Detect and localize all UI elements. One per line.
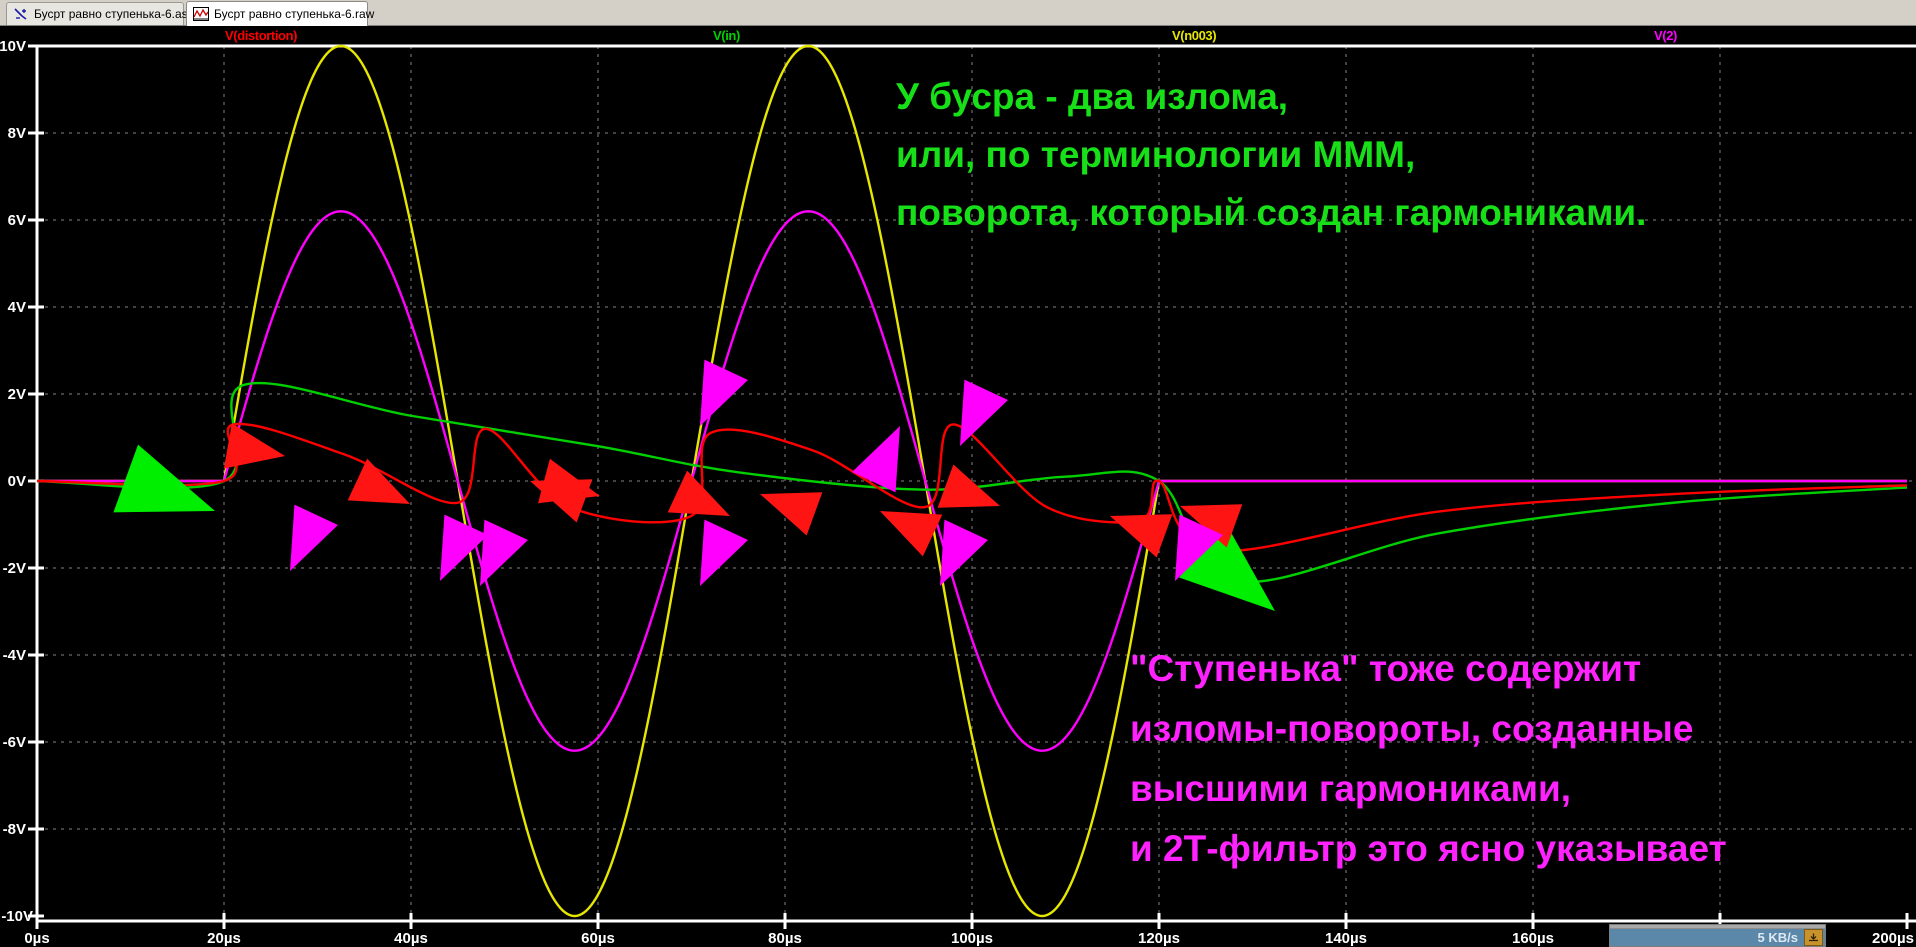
widget-body[interactable]: 5 KB/s <box>1610 929 1825 946</box>
x-tick-label: 120µs <box>1138 930 1180 947</box>
y-tick-label: 6V <box>8 212 26 229</box>
waveform-icon <box>193 7 209 21</box>
x-tick-label: 0µs <box>24 930 49 947</box>
y-tick-label: 0V <box>8 473 26 490</box>
y-tick-label: -4V <box>3 647 26 664</box>
x-tick-label: 80µs <box>768 930 802 947</box>
y-tick-label: -10V <box>1 908 33 925</box>
annotation-magenta-line-1: "Ступенька" тоже содержит <box>1130 648 1641 690</box>
y-tick-label: -2V <box>3 560 26 577</box>
annotation-magenta-line-4: и 2Т-фильтр это ясно указывает <box>1130 828 1727 870</box>
x-tick-label: 60µs <box>581 930 615 947</box>
x-tick-label: 160µs <box>1512 930 1554 947</box>
tab-label: Бусрт равно ступенька-6.asc <box>34 7 194 21</box>
y-tick-label: 2V <box>8 386 26 403</box>
annotation-magenta-line-2: изломы-повороты, созданные <box>1130 708 1693 750</box>
y-tick-label: 4V <box>8 299 26 316</box>
y-tick-label: 8V <box>8 125 26 142</box>
x-tick-label: 100µs <box>951 930 993 947</box>
tab-schematic[interactable]: Бусрт равно ступенька-6.asc <box>6 2 184 25</box>
tab-bar: Бусрт равно ступенька-6.asc Бусрт равно … <box>0 0 1916 26</box>
x-tick-label: 140µs <box>1325 930 1367 947</box>
trace-label-v-2[interactable]: V(2) <box>1654 28 1677 43</box>
y-tick-label: -8V <box>3 821 26 838</box>
network-rate-label: 5 KB/s <box>1758 930 1798 945</box>
tab-strip-filler <box>370 2 1916 25</box>
network-rate-widget[interactable]: 5 KB/s <box>1609 924 1826 947</box>
annotation-green-line-3: поворота, который создан гармониками. <box>896 192 1646 234</box>
schematic-icon <box>13 7 29 21</box>
trace-label-v-in[interactable]: V(in) <box>713 28 740 43</box>
annotation-green-line-2: или, по терминологии МММ, <box>896 134 1415 176</box>
trace-label-v-distortion[interactable]: V(distortion) <box>225 28 297 43</box>
x-tick-label: 20µs <box>207 930 241 947</box>
download-tray-icon[interactable] <box>1804 929 1823 946</box>
waveform-plot-pane[interactable]: 10V 8V 6V 4V 2V 0V -2V -4V -6V -8V -10V … <box>0 26 1916 947</box>
annotation-green-line-1: У бусра - два излома, <box>896 76 1288 118</box>
x-tick-label: 200µs <box>1872 930 1914 947</box>
y-tick-label: -6V <box>3 734 26 751</box>
annotation-magenta-line-3: высшими гармониками, <box>1130 768 1571 810</box>
tab-waveform[interactable]: Бусрт равно ступенька-6.raw <box>186 1 368 26</box>
y-tick-label: 10V <box>0 38 26 55</box>
trace-label-v-n003[interactable]: V(n003) <box>1172 28 1216 43</box>
x-tick-label: 40µs <box>394 930 428 947</box>
tab-label: Бусрт равно ступенька-6.raw <box>214 7 374 21</box>
